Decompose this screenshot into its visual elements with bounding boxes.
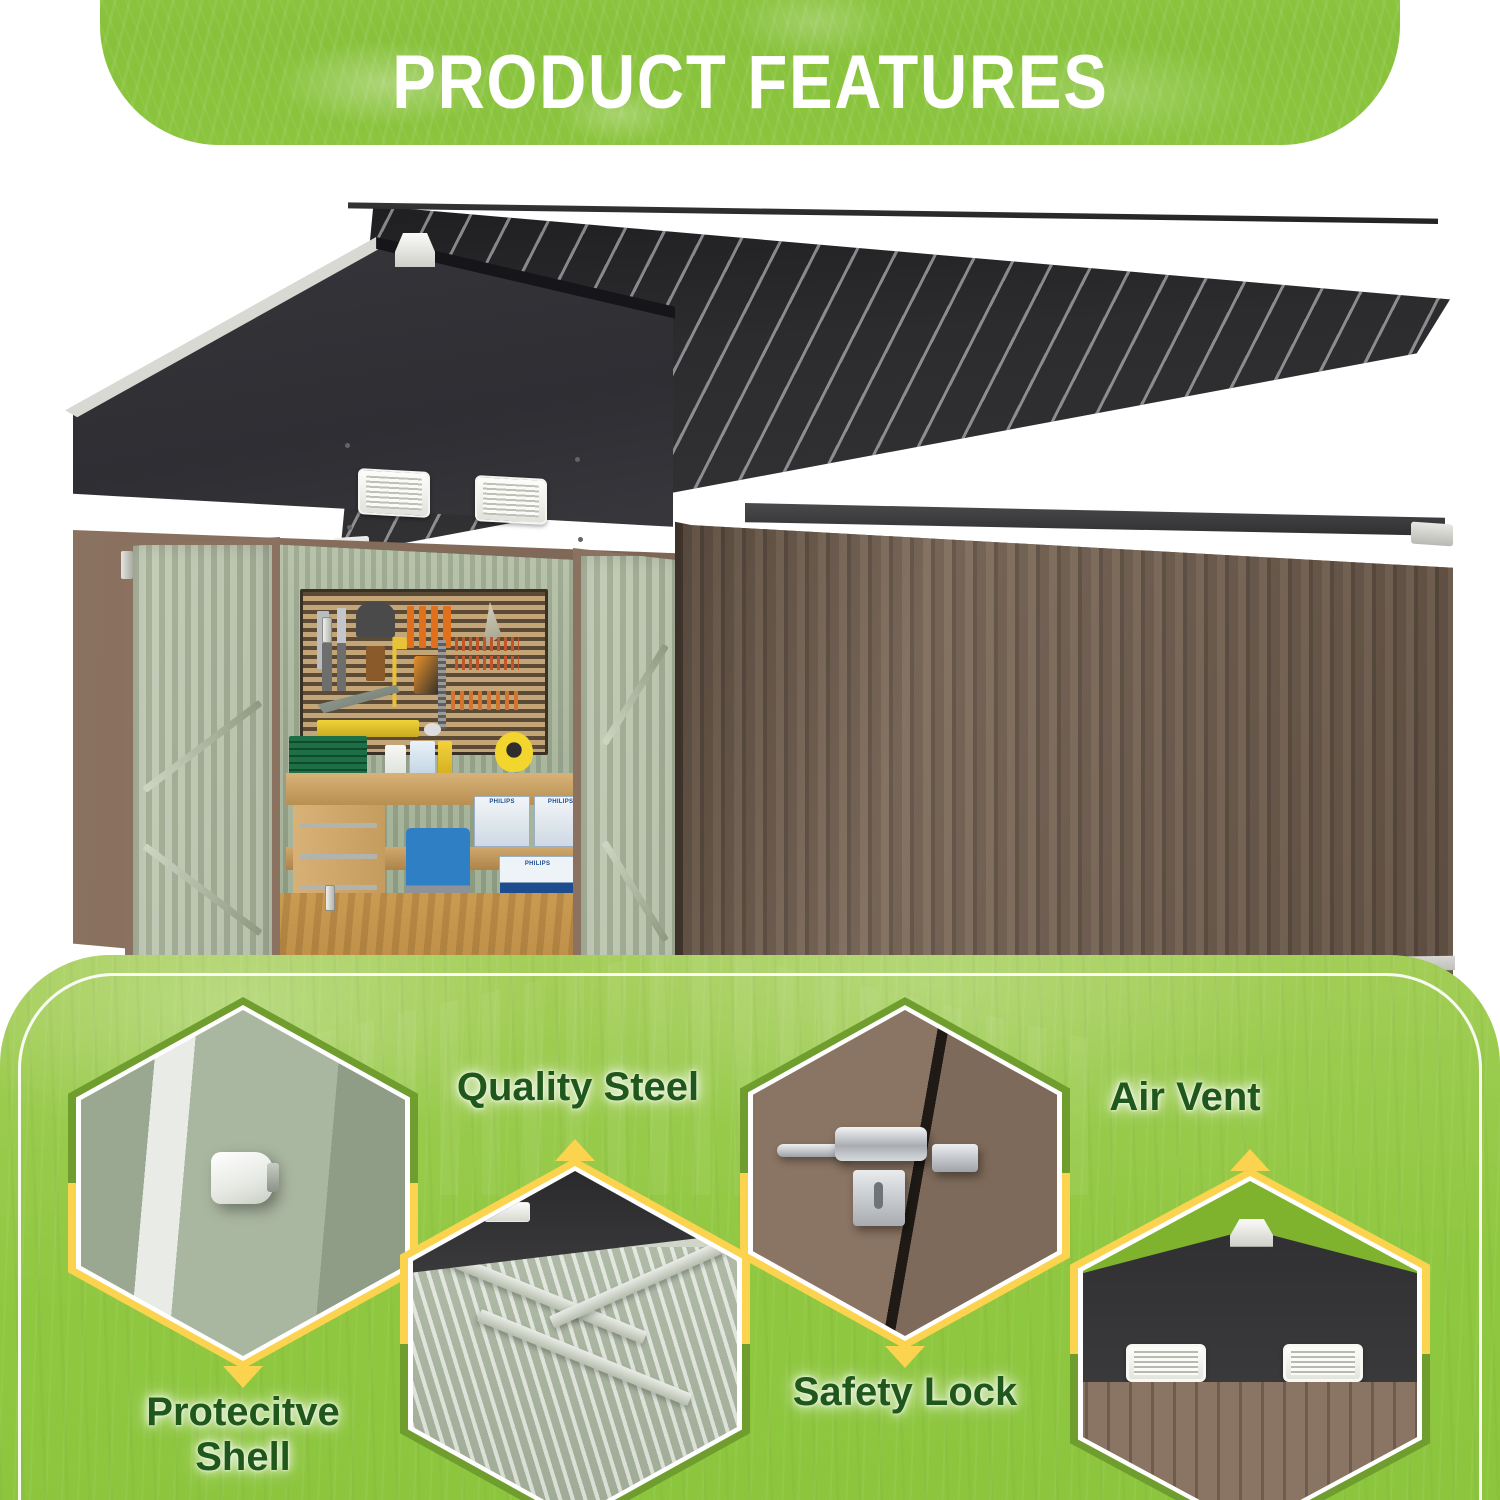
box-brand-label: PHILIPS — [475, 799, 530, 805]
gable-wall — [1083, 1382, 1417, 1500]
green-tool-cases — [289, 736, 367, 777]
screw-icon — [345, 443, 350, 448]
handsaw-icon — [414, 656, 441, 694]
spirit-level-icon — [317, 720, 419, 738]
latch-body-icon — [835, 1127, 927, 1161]
gable-end-art — [1083, 1181, 1417, 1500]
door-brace-icon — [601, 643, 669, 745]
air-vent-icon-left — [358, 468, 430, 518]
chain-icon — [438, 640, 445, 729]
header-banner: PRODUCT FEATURES — [100, 0, 1400, 145]
ridge-cap-icon — [395, 233, 435, 267]
hex-image-air-vent — [1083, 1181, 1417, 1500]
screw-icon — [578, 537, 583, 542]
latch-keeper-icon — [932, 1144, 978, 1172]
pliers-row-icon — [455, 637, 518, 651]
shed-illustration: PHILIPS PHILIPS PHILIPS PowerGo 1800 W — [55, 185, 1445, 925]
screwdriver-icon — [407, 606, 414, 647]
hex-pointer-down-icon — [223, 1366, 263, 1388]
latch-plate-icon — [853, 1170, 905, 1226]
feature-card-safety-lock[interactable] — [740, 997, 1070, 1349]
screw-icon — [575, 457, 580, 462]
door-brace-icon — [601, 841, 669, 943]
cord-reel-icon — [495, 732, 533, 772]
ridge-cap-icon — [1230, 1219, 1273, 1247]
hex-image-quality-steel — [413, 1171, 737, 1500]
hex-pointer-down-icon — [885, 1346, 925, 1368]
page-title: PRODUCT FEATURES — [392, 45, 1108, 121]
drawer-handle — [300, 854, 378, 859]
tool-pegboard — [300, 589, 549, 755]
pliers-row-icon — [455, 656, 518, 670]
screwdriver-icon — [431, 606, 438, 647]
protective-knob-icon — [211, 1152, 273, 1204]
roof-corner-cap-right — [1411, 522, 1453, 547]
feature-label-protective-shell: Protecitve Shell — [68, 1390, 418, 1480]
clamp-row-icon — [451, 691, 524, 710]
feature-label-quality-steel: Quality Steel — [398, 1065, 758, 1110]
feature-label-safety-lock: Safety Lock — [730, 1370, 1080, 1415]
door-hinge-icon — [121, 551, 133, 579]
chisel-icon — [322, 643, 332, 691]
product-box: PHILIPS — [474, 796, 531, 847]
chisel-icon — [337, 643, 347, 691]
feature-card-protective-shell[interactable] — [68, 997, 418, 1369]
feature-card-air-vent[interactable] — [1070, 1168, 1430, 1500]
shed-side-wall — [683, 515, 1453, 995]
hex-pointer-up-icon — [1230, 1149, 1270, 1171]
square-tool-icon — [392, 637, 407, 707]
air-vent-icon-right — [475, 475, 547, 525]
workbench-top — [286, 773, 577, 805]
interior-roof-art — [413, 1171, 737, 1500]
drawer-handle — [300, 823, 378, 828]
air-vent-icon-left — [1126, 1344, 1206, 1382]
feature-label-air-vent: Air Vent — [1010, 1075, 1360, 1120]
drawer-handle — [300, 885, 378, 890]
mallet-icon — [366, 646, 385, 681]
shed-interior: PHILIPS PHILIPS PHILIPS PowerGo 1800 W — [250, 543, 605, 1003]
box-brand-label: PHILIPS — [500, 861, 576, 867]
hex-pointer-up-icon — [555, 1139, 595, 1161]
product-features-infographic: PRODUCT FEATURES — [0, 0, 1500, 1500]
shed-door-left[interactable] — [125, 537, 280, 1002]
screwdriver-icon — [419, 606, 426, 647]
door-latch-left[interactable] — [325, 885, 335, 911]
gauge-icon — [424, 723, 441, 736]
hex-key-set-icon — [356, 602, 395, 637]
hero-product-image: PHILIPS PHILIPS PHILIPS PowerGo 1800 W — [0, 150, 1500, 940]
door-brace-icon — [143, 843, 263, 936]
screw-icon — [347, 525, 352, 530]
door-brace-icon — [143, 700, 263, 793]
door-handle-left[interactable] — [322, 617, 332, 643]
features-panel: Protecitve Shell Quality Steel — [0, 955, 1500, 1500]
feature-card-quality-steel[interactable] — [400, 1158, 750, 1500]
air-vent-icon-right — [1283, 1344, 1363, 1382]
